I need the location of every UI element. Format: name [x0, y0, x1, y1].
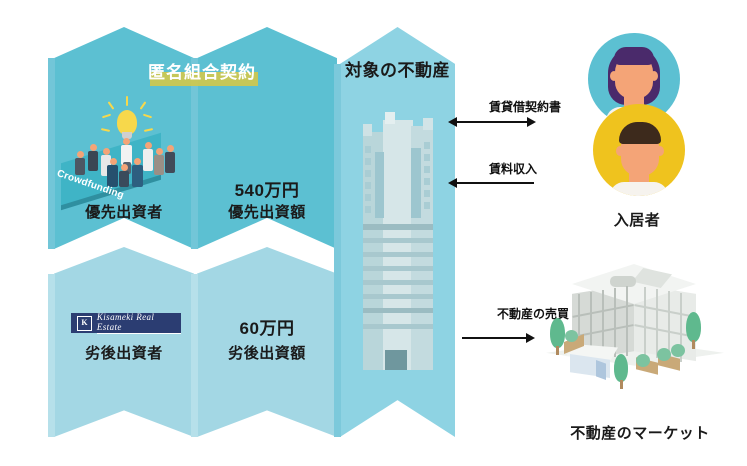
tree-trunk-icon: [620, 380, 623, 389]
banner-title: 匿名組合契約: [148, 58, 256, 83]
hedge-bush-icon: [671, 344, 685, 357]
contract-banner: 匿名組合契約: [148, 58, 256, 83]
person-body: [75, 158, 85, 175]
tower-body-mid: [383, 120, 413, 370]
tower-glass-left: [375, 152, 384, 218]
tree-icon: [614, 354, 628, 382]
bulb-ray-icon: [143, 114, 152, 119]
tower-glass-right: [411, 148, 421, 218]
bulb-ray-icon: [101, 128, 110, 132]
tower-window-col: [365, 182, 371, 189]
hedge-bush-icon: [636, 354, 650, 367]
arrow-line-rent-income: [455, 182, 534, 184]
window-grid-left: [614, 288, 616, 357]
tower-window-col: [424, 190, 430, 197]
shirt-male: [610, 182, 668, 196]
hair-female-fringe: [614, 47, 654, 65]
label-subordinate-amount: 劣後出資額: [197, 345, 337, 364]
person-body: [132, 165, 143, 187]
person-head: [110, 158, 117, 165]
bulb-ray-icon: [108, 101, 115, 110]
tower-band: [363, 252, 433, 257]
tower-entrance: [385, 350, 407, 370]
tower-band: [363, 308, 433, 313]
kisameki-logo-mark: K: [77, 316, 92, 331]
person-head: [167, 145, 174, 152]
person-head: [77, 151, 84, 158]
arrow-line-lease-contract: [455, 121, 529, 123]
roof-vents: [610, 276, 636, 287]
bulb-ray-icon: [144, 128, 153, 132]
hair-male: [619, 122, 661, 144]
chevron-amounts-bottom: [197, 247, 337, 437]
tree-trunk-icon: [556, 346, 559, 355]
market-building-illustration: [540, 262, 730, 422]
amount-subordinate: 60万円: [197, 318, 337, 339]
tower-crown-mid: [385, 112, 395, 124]
avatar-male: [593, 104, 685, 196]
tree-icon: [686, 312, 701, 342]
arrow-head-right-icon: [527, 117, 536, 127]
tower-window-col: [424, 142, 430, 149]
tower-band: [363, 238, 433, 243]
label-senior-amount: 優先出資額: [197, 204, 337, 223]
ear-male: [656, 146, 664, 156]
kisameki-logo-text: Kisameki Real Estate: [97, 312, 181, 334]
person-body: [143, 149, 153, 171]
arrow-label-rent-income: 賃料収入: [489, 160, 537, 177]
label-real-estate-market: 不動産のマーケット: [560, 425, 720, 444]
person-head: [134, 158, 141, 165]
hedge-bush-icon: [657, 348, 671, 361]
person-body: [88, 151, 98, 171]
tower-window-col: [424, 166, 430, 173]
amount-senior: 540万円: [197, 180, 337, 201]
tower-window-col: [424, 178, 430, 185]
chevron-property-edge: [334, 64, 341, 437]
tower-crown-left: [363, 124, 372, 136]
label-subordinate-investor: 劣後出資者: [54, 345, 194, 364]
person-head: [103, 148, 110, 155]
label-senior-investor: 優先出資者: [54, 204, 194, 223]
chevron-investors-bottom: [54, 247, 194, 437]
tower-crown-right: [423, 118, 433, 130]
person-body: [107, 165, 118, 187]
tower-window-col: [365, 170, 371, 177]
arrow-head-right-icon: [526, 333, 535, 343]
tower-window-col: [365, 146, 371, 153]
person-head: [145, 142, 152, 149]
window-grid-left: [626, 286, 628, 356]
arrow-line-property-trade: [462, 337, 528, 339]
tower-window-col: [424, 154, 430, 161]
kisameki-logo: K Kisameki Real Estate: [71, 313, 181, 333]
person-head: [123, 138, 130, 145]
tower-band: [363, 280, 433, 285]
tower-band: [363, 324, 433, 329]
ear-female: [610, 71, 618, 81]
label-target-property: 対象の不動産: [340, 60, 455, 81]
tower-window-col: [365, 206, 371, 213]
person-body: [154, 155, 164, 175]
person-body: [165, 152, 175, 173]
tower-band: [363, 294, 433, 299]
bulb-ray-icon: [126, 96, 128, 106]
ear-female: [650, 71, 658, 81]
tree-trunk-icon: [692, 340, 695, 349]
tower-band: [363, 266, 433, 271]
window-grid-right: [644, 287, 646, 356]
bulb-ray-icon: [140, 101, 147, 110]
tower-building-illustration: [355, 112, 441, 370]
person-head: [121, 164, 128, 171]
tower-window-col: [365, 194, 371, 201]
window-grid-right: [656, 289, 658, 358]
tower-window-col: [424, 202, 430, 209]
arrow-head-left-icon: [448, 117, 457, 127]
tower-window-col: [365, 158, 371, 165]
arrow-label-lease-contract: 賃貸借契約書: [489, 98, 561, 115]
bulb-ray-icon: [102, 114, 111, 119]
person-head: [90, 144, 97, 151]
arrow-head-left-icon: [448, 178, 457, 188]
crowdfunding-illustration: Crowdfunding: [57, 96, 185, 196]
diagram-canvas: Crowdfunding 優先出資者 K Kisameki Real Estat…: [0, 0, 747, 466]
label-tenant: 入居者: [588, 212, 686, 231]
ear-male: [616, 146, 624, 156]
tower-band: [363, 224, 433, 230]
hedge-bush-icon: [565, 330, 578, 342]
person-head: [156, 148, 163, 155]
person-body: [119, 171, 129, 187]
tree-icon: [550, 318, 565, 348]
